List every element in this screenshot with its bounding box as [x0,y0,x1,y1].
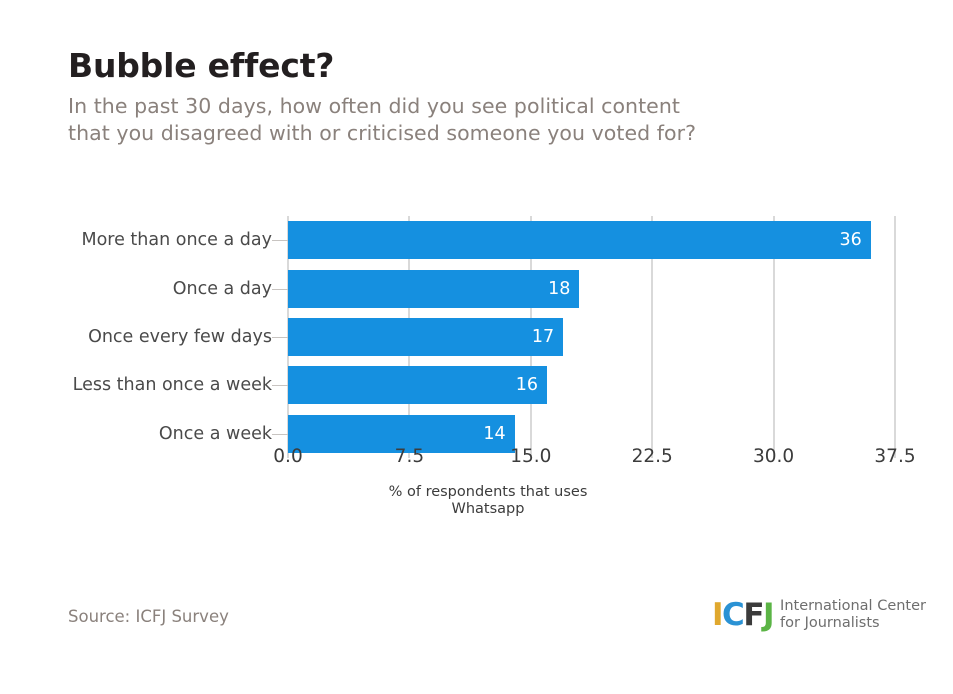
bar-value-label: 18 [288,270,579,308]
y-axis-label: More than once a day [81,221,272,259]
page-subtitle-line-2: that you disagreed with or criticised so… [68,120,888,147]
icfj-logo: ICFJ International Center for Journalist… [712,597,926,633]
bar-row[interactable]: 36 [288,221,895,259]
y-axis-label: Once a day [173,270,272,308]
x-axis-tick-label: 7.5 [395,446,424,467]
infographic-poster: Bubble effect? In the past 30 days, how … [0,0,953,694]
page-title: Bubble effect? [68,48,888,85]
y-axis-label: Less than once a week [73,366,272,404]
bar-chart: More than once a dayOnce a dayOnce every… [0,196,953,486]
y-axis-tick [272,337,288,338]
icfj-logo-letter-j: J [763,600,773,630]
bar-row[interactable]: 14 [288,415,895,453]
page-subtitle-line-1: In the past 30 days, how often did you s… [68,93,888,120]
y-axis-tick [272,385,288,386]
icfj-logo-letter-c: C [722,600,743,630]
bar-row[interactable]: 18 [288,270,895,308]
icfj-logo-text-line-1: International Center [780,598,926,615]
bar-value-label: 17 [288,318,563,356]
x-axis-tick-label: 22.5 [632,446,673,467]
y-axis-tick [272,434,288,435]
bar-row[interactable]: 16 [288,366,895,404]
icfj-logo-text-line-2: for Journalists [780,615,926,632]
source-note: Source: ICFJ Survey [68,607,229,626]
x-axis-tick-label: 37.5 [874,446,915,467]
icfj-logo-text: International Center for Journalists [780,598,926,632]
bar-value-label: 16 [288,366,547,404]
bar-row[interactable]: 17 [288,318,895,356]
chart-header: Bubble effect? In the past 30 days, how … [68,48,888,147]
bar-value-label: 36 [288,221,871,259]
x-axis-tick-label: 0.0 [273,446,302,467]
plot-area: 3618171614 [288,216,895,458]
x-axis-title: % of respondents that uses Whatsapp [288,484,688,518]
icfj-logo-mark: ICFJ [712,600,773,630]
y-axis-tick [272,240,288,241]
page-subtitle: In the past 30 days, how often did you s… [68,93,888,148]
x-axis-tick-label: 30.0 [753,446,794,467]
x-axis-title-line-1: % of respondents that uses [288,484,688,501]
y-axis-label: Once a week [159,415,272,453]
x-axis-tick-label: 15.0 [510,446,551,467]
y-axis-labels: More than once a dayOnce a dayOnce every… [0,216,272,458]
x-axis-title-line-2: Whatsapp [288,501,688,518]
icfj-logo-letter-f: F [743,600,763,630]
y-axis-tick [272,289,288,290]
y-axis-label: Once every few days [88,318,272,356]
icfj-logo-letter-i: I [712,600,722,630]
